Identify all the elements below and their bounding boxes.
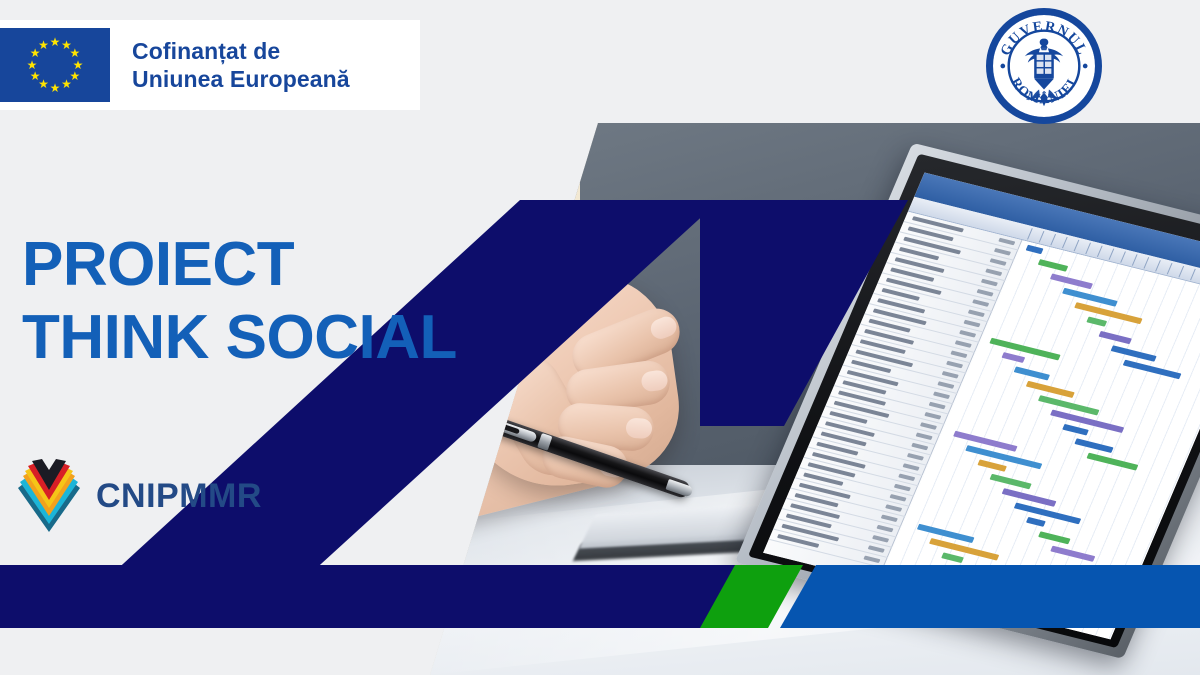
- gantt-bar: [1026, 245, 1044, 254]
- gantt-bar: [990, 474, 1032, 490]
- gantt-bar: [1038, 395, 1100, 415]
- eu-star-icon: ★: [38, 40, 49, 51]
- gantt-bar: [1062, 424, 1089, 436]
- eu-logo-line-1: Cofinanțat de: [132, 37, 350, 65]
- gantt-bar: [1014, 503, 1081, 525]
- eu-logo-line-2: Uniunea Europeană: [132, 65, 350, 93]
- bottom-band-navy: [0, 565, 790, 628]
- cnipmmr-chevron-icon: [16, 458, 82, 534]
- gantt-bar: [1050, 273, 1093, 289]
- page-title-line-2: THINK SOCIAL: [22, 301, 457, 374]
- gantt-bar: [1014, 366, 1050, 380]
- gantt-bar: [1050, 546, 1095, 562]
- gantt-bar: [1111, 345, 1157, 361]
- gantt-bar: [1026, 517, 1046, 527]
- eu-star-icon: ★: [50, 83, 61, 94]
- eu-logo-text: Cofinanțat de Uniunea Europeană: [132, 37, 350, 93]
- eu-cofinancing-logo: ★★★★★★★★★★★★ Cofinanțat de Uniunea Europ…: [0, 20, 420, 110]
- seal-graphic: GUVERNUL ROMÂNIEI: [993, 14, 1095, 118]
- eu-star-icon: ★: [30, 71, 41, 82]
- cnipmmr-label: CNIPMMR: [96, 477, 262, 516]
- banner-canvas: ★★★★★★★★★★★★ Cofinanțat de Uniunea Europ…: [0, 0, 1200, 675]
- gantt-bar: [1062, 288, 1118, 307]
- gantt-bar: [1002, 488, 1057, 507]
- gantt-bar: [1038, 259, 1069, 272]
- gantt-bar: [941, 552, 964, 563]
- eu-star-icon: ★: [61, 79, 72, 90]
- gantt-bar: [1074, 438, 1113, 453]
- eu-star-icon: ★: [27, 60, 38, 71]
- bottom-band-blue: [780, 565, 1200, 628]
- gantt-bar: [1038, 531, 1070, 544]
- gantt-bar: [1098, 331, 1131, 344]
- page-title: PROIECT THINK SOCIAL: [22, 228, 457, 374]
- gantt-bar: [1087, 453, 1139, 471]
- gantt-bar: [929, 538, 999, 561]
- gantt-bar: [917, 524, 975, 543]
- gantt-bar: [1123, 360, 1182, 380]
- gantt-bar: [1026, 381, 1075, 398]
- gantt-bar: [1001, 352, 1025, 363]
- gantt-bar: [1086, 317, 1107, 327]
- guvernul-romaniei-seal: GUVERNUL ROMÂNIEI: [986, 8, 1102, 124]
- page-title-line-1: PROIECT: [22, 228, 457, 301]
- eu-flag-icon: ★★★★★★★★★★★★: [0, 28, 110, 102]
- gantt-bar: [977, 459, 1007, 471]
- gantt-bar: [1074, 302, 1142, 324]
- cnipmmr-logo: CNIPMMR: [16, 458, 262, 534]
- eu-star-icon: ★: [50, 37, 61, 48]
